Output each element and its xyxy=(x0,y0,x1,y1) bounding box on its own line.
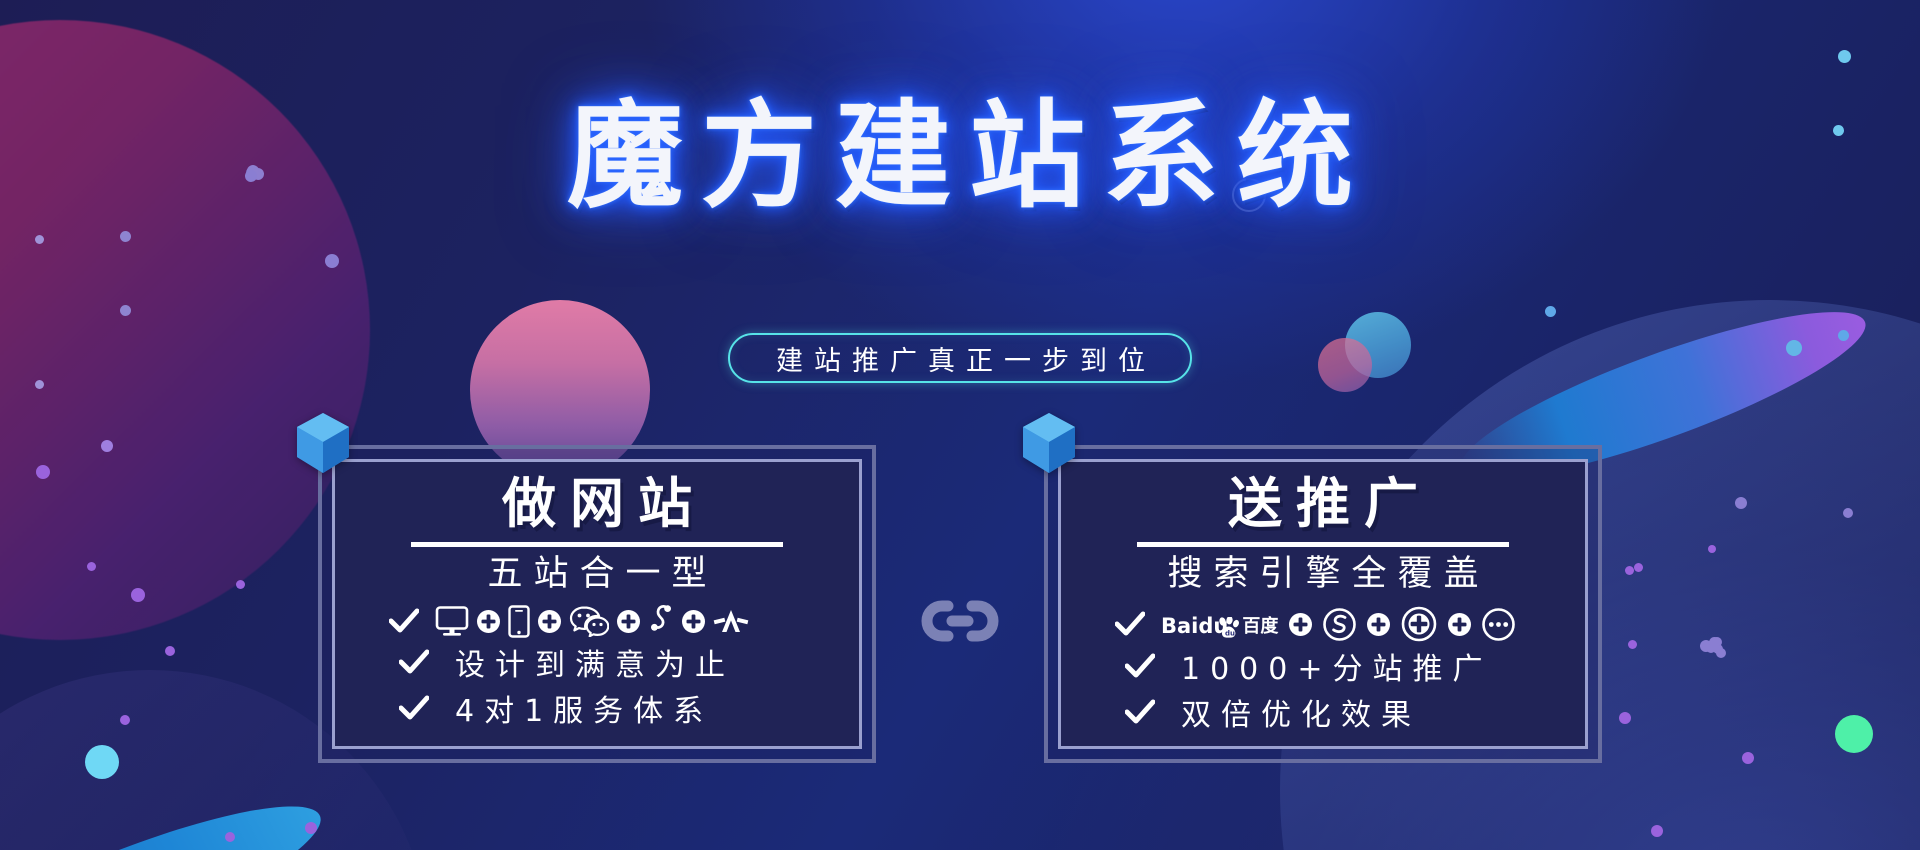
plus-icon xyxy=(1366,612,1391,637)
card-subtitle: 搜索引擎全覆盖 xyxy=(1156,553,1489,597)
baidu-logo: Baidu du 百度 xyxy=(1161,609,1278,639)
platform-icon-row xyxy=(435,604,749,638)
feature-row-platform-icons xyxy=(335,604,859,638)
feature-label: 4对1服务体系 xyxy=(445,686,713,730)
cube-gem-icon xyxy=(1020,411,1078,477)
plus-icon xyxy=(681,609,706,634)
card-subtitle: 五站合一型 xyxy=(476,553,717,597)
baidu-paw-icon: du xyxy=(1218,617,1240,641)
feature-label: 1000+分站推广 xyxy=(1171,644,1492,688)
plus-icon xyxy=(1288,612,1313,637)
mobile-phone-icon xyxy=(508,605,530,638)
star-dot xyxy=(1651,825,1663,837)
feature-row-design: 设计到满意为止 xyxy=(335,640,859,684)
main-title-block: 魔方建站系统 xyxy=(0,92,1920,222)
checkmark-icon xyxy=(1125,699,1155,725)
card-build-website[interactable]: 做网站 五站合一型 xyxy=(318,445,876,763)
feature-row-service: 4对1服务体系 xyxy=(335,686,859,730)
chain-link-icon xyxy=(918,598,1002,644)
subtitle-pill: 建站推广真正一步到位 xyxy=(728,333,1192,383)
plus-icon xyxy=(616,609,641,634)
checkmark-icon xyxy=(399,649,429,675)
star-dot xyxy=(120,231,131,242)
card-title-underline xyxy=(1137,542,1509,547)
card-title: 送推广 xyxy=(1214,476,1432,533)
monitor-icon xyxy=(435,605,469,637)
card-title: 做网站 xyxy=(488,476,706,533)
plus-icon xyxy=(1447,612,1472,637)
star-dot xyxy=(35,235,44,244)
feature-row-optimization: 双倍优化效果 xyxy=(1061,690,1585,734)
card-inner-frame: 做网站 五站合一型 xyxy=(332,459,862,749)
plus-icon xyxy=(537,609,562,634)
wechat-icon xyxy=(569,605,609,637)
left-comet-decoration xyxy=(0,775,336,850)
promo-banner: 魔方建站系统 建站推广真正一步到位 做网站 五站合一型 xyxy=(0,0,1920,850)
card-title-underline xyxy=(411,542,783,547)
360-search-icon xyxy=(1401,606,1437,642)
card-free-promotion[interactable]: 送推广 搜索引擎全覆盖 Baidu xyxy=(1044,445,1602,763)
feature-row-search-engines: Baidu du 百度 xyxy=(1061,606,1585,642)
subtitle-block: 建站推广真正一步到位 xyxy=(0,333,1920,383)
checkmark-icon xyxy=(1115,611,1145,637)
more-ellipsis-icon xyxy=(1482,608,1515,641)
star-dot xyxy=(1545,306,1556,317)
feature-label: 双倍优化效果 xyxy=(1171,690,1421,734)
sogou-icon xyxy=(1323,608,1356,641)
page-title: 魔方建站系统 xyxy=(549,92,1371,222)
star-dot xyxy=(225,832,235,842)
star-dot xyxy=(325,254,339,268)
star-dot xyxy=(120,305,131,316)
star-dot xyxy=(305,822,317,834)
checkmark-icon xyxy=(389,608,419,634)
checkmark-icon xyxy=(1125,653,1155,679)
feature-label: 设计到满意为止 xyxy=(445,640,735,684)
star-dot xyxy=(1838,50,1851,63)
app-store-icon xyxy=(713,606,749,636)
checkmark-icon xyxy=(399,695,429,721)
cube-gem-icon xyxy=(294,411,352,477)
plus-icon xyxy=(476,609,501,634)
svg-text:du: du xyxy=(1225,630,1235,638)
baidu-chinese-text: 百度 xyxy=(1242,618,1278,639)
qq-icon xyxy=(648,604,674,638)
search-engine-icon-row: Baidu du 百度 xyxy=(1161,606,1515,642)
feature-row-subsites: 1000+分站推广 xyxy=(1061,644,1585,688)
card-inner-frame: 送推广 搜索引擎全覆盖 Baidu xyxy=(1058,459,1588,749)
